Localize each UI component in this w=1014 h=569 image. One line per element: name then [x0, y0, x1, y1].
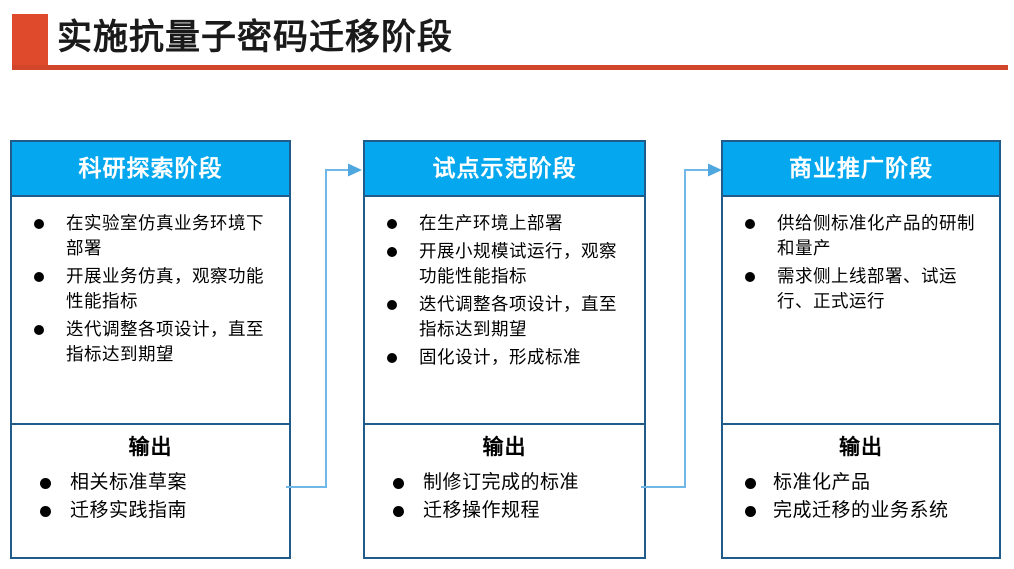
- bullet-dot-icon: [745, 272, 755, 282]
- phase-bullet-list: 在生产环境上部署 开展小规模试运行，观察功能性能指标 迭代调整各项设计，直至指标…: [377, 211, 634, 370]
- list-item-text: 迭代调整各项设计，直至指标达到期望: [66, 319, 264, 364]
- phase-card-output-section: 输出 标准化产品 完成迁移的业务系统: [723, 425, 999, 557]
- bullet-dot-icon: [745, 219, 755, 229]
- output-list: 制修订完成的标准 迁移操作规程: [373, 469, 636, 525]
- output-list: 相关标准草案 迁移实践指南: [20, 469, 281, 525]
- list-item-text: 供给侧标准化产品的研制和量产: [777, 213, 975, 258]
- list-item-text: 在实验室仿真业务环境下部署: [66, 213, 264, 258]
- list-item: 需求侧上线部署、试运行、正式运行: [735, 264, 989, 314]
- list-item: 迭代调整各项设计，直至指标达到期望: [24, 317, 279, 367]
- list-item-text: 在生产环境上部署: [419, 213, 563, 233]
- list-item-text: 迁移操作规程: [423, 500, 540, 521]
- phase-bullet-list: 在实验室仿真业务环境下部署 开展业务仿真，观察功能性能指标 迭代调整各项设计，直…: [24, 211, 279, 367]
- list-item: 相关标准草案: [20, 469, 281, 497]
- phase-card-header: 商业推广阶段: [723, 142, 999, 197]
- bullet-dot-icon: [745, 478, 756, 489]
- list-item-text: 迁移实践指南: [70, 500, 187, 521]
- title-accent-bar: [12, 14, 48, 68]
- arrow-right-icon: [348, 164, 362, 177]
- output-list: 标准化产品 完成迁移的业务系统: [731, 469, 991, 525]
- list-item: 迁移实践指南: [20, 497, 281, 525]
- list-item-text: 制修订完成的标准: [423, 472, 579, 493]
- phase-card-body: 在生产环境上部署 开展小规模试运行，观察功能性能指标 迭代调整各项设计，直至指标…: [365, 197, 644, 425]
- phase-card-output-section: 输出 相关标准草案 迁移实践指南: [12, 425, 289, 557]
- output-section-title: 输出: [20, 433, 281, 463]
- phase-card-title: 商业推广阶段: [789, 157, 933, 180]
- phase-card-title: 科研探索阶段: [79, 157, 223, 180]
- phase-card-header: 科研探索阶段: [12, 142, 289, 197]
- phase-card-output-section: 输出 制修订完成的标准 迁移操作规程: [365, 425, 644, 557]
- connector-arrow-research-to-pilot: [286, 160, 366, 490]
- bullet-dot-icon: [34, 325, 44, 335]
- bullet-dot-icon: [40, 478, 51, 489]
- connector-arrow-pilot-to-commercial: [641, 160, 726, 490]
- list-item: 迭代调整各项设计，直至指标达到期望: [377, 292, 634, 342]
- bullet-dot-icon: [745, 506, 756, 517]
- list-item-text: 完成迁移的业务系统: [773, 500, 949, 521]
- phase-card-pilot[interactable]: 试点示范阶段 在生产环境上部署 开展小规模试运行，观察功能性能指标 迭代调整各项…: [363, 140, 646, 559]
- phase-card-title: 试点示范阶段: [433, 157, 577, 180]
- slide-header: 实施抗量子密码迁移阶段: [0, 0, 1014, 78]
- list-item-text: 相关标准草案: [70, 472, 187, 493]
- bullet-dot-icon: [387, 300, 397, 310]
- list-item-text: 标准化产品: [773, 472, 871, 493]
- list-item-text: 固化设计，形成标准: [419, 347, 581, 367]
- bullet-dot-icon: [34, 272, 44, 282]
- phase-card-research[interactable]: 科研探索阶段 在实验室仿真业务环境下部署 开展业务仿真，观察功能性能指标 迭代调…: [10, 140, 291, 559]
- phase-card-header: 试点示范阶段: [365, 142, 644, 197]
- list-item: 供给侧标准化产品的研制和量产: [735, 211, 989, 261]
- bullet-dot-icon: [393, 478, 404, 489]
- bullet-dot-icon: [34, 219, 44, 229]
- list-item: 制修订完成的标准: [373, 469, 636, 497]
- bullet-dot-icon: [387, 219, 397, 229]
- list-item: 开展业务仿真，观察功能性能指标: [24, 264, 279, 314]
- bullet-dot-icon: [40, 506, 51, 517]
- title-divider-rule: [12, 65, 1008, 70]
- list-item-text: 开展业务仿真，观察功能性能指标: [66, 266, 264, 311]
- output-section-title: 输出: [373, 433, 636, 463]
- list-item-text: 迭代调整各项设计，直至指标达到期望: [419, 294, 617, 339]
- list-item: 迁移操作规程: [373, 497, 636, 525]
- list-item: 在生产环境上部署: [377, 211, 634, 236]
- phase-card-body: 在实验室仿真业务环境下部署 开展业务仿真，观察功能性能指标 迭代调整各项设计，直…: [12, 197, 289, 425]
- arrow-right-icon: [708, 164, 722, 177]
- bullet-dot-icon: [387, 353, 397, 363]
- phase-card-body: 供给侧标准化产品的研制和量产 需求侧上线部署、试运行、正式运行: [723, 197, 999, 425]
- list-item: 在实验室仿真业务环境下部署: [24, 211, 279, 261]
- bullet-dot-icon: [387, 247, 397, 257]
- bullet-dot-icon: [393, 506, 404, 517]
- list-item: 开展小规模试运行，观察功能性能指标: [377, 239, 634, 289]
- phase-bullet-list: 供给侧标准化产品的研制和量产 需求侧上线部署、试运行、正式运行: [735, 211, 989, 314]
- list-item: 固化设计，形成标准: [377, 345, 634, 370]
- list-item: 完成迁移的业务系统: [731, 497, 991, 525]
- phase-card-commercial[interactable]: 商业推广阶段 供给侧标准化产品的研制和量产 需求侧上线部署、试运行、正式运行 输…: [721, 140, 1001, 559]
- page-title: 实施抗量子密码迁移阶段: [57, 12, 453, 64]
- list-item-text: 开展小规模试运行，观察功能性能指标: [419, 241, 617, 286]
- list-item: 标准化产品: [731, 469, 991, 497]
- list-item-text: 需求侧上线部署、试运行、正式运行: [777, 266, 957, 311]
- output-section-title: 输出: [731, 433, 991, 463]
